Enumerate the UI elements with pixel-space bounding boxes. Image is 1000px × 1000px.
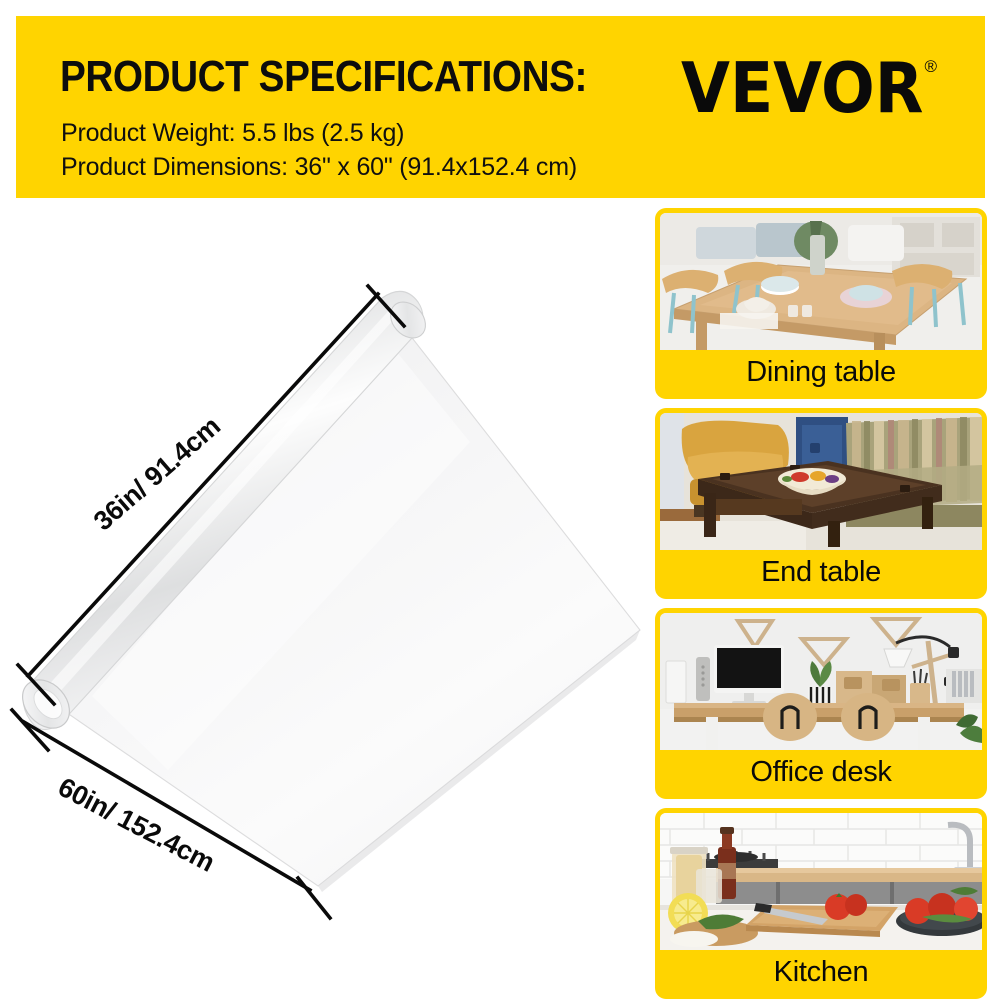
header-banner: PRODUCT SPECIFICATIONS: Product Weight: …: [16, 16, 985, 198]
product-illustration: 36in/ 91.4cm 60in/ 152.4cm: [0, 210, 650, 1000]
kitchen-scene: [660, 813, 982, 950]
dining-table-photo: [660, 213, 982, 350]
dining-table-scene: [660, 213, 982, 350]
use-case-card-office-desk[interactable]: Office desk: [655, 608, 987, 799]
spec-weight: Product Weight: 5.5 lbs (2.5 kg): [61, 119, 404, 148]
use-case-label-end-table: End table: [655, 547, 987, 597]
mat-graphic: [0, 210, 650, 1000]
use-case-card-end-table[interactable]: End table: [655, 408, 987, 599]
spec-dimensions: Product Dimensions: 36" x 60" (91.4x152.…: [61, 153, 577, 182]
use-case-label-kitchen: Kitchen: [655, 947, 987, 997]
office-desk-scene: [660, 613, 982, 750]
page-title: PRODUCT SPECIFICATIONS:: [60, 52, 587, 102]
use-case-card-kitchen[interactable]: Kitchen: [655, 808, 987, 999]
use-case-card-list: Dining table: [655, 208, 987, 999]
use-case-label-dining-table: Dining table: [655, 347, 987, 397]
end-table-photo: [660, 413, 982, 550]
use-case-card-dining-table[interactable]: Dining table: [655, 208, 987, 399]
brand-logo: VEVOR ®: [681, 54, 937, 116]
brand-wordmark: VEVOR: [681, 54, 923, 123]
kitchen-photo: [660, 813, 982, 950]
registered-trademark-icon: ®: [924, 58, 937, 75]
office-desk-photo: [660, 613, 982, 750]
end-table-scene: [660, 413, 982, 550]
use-case-label-office-desk: Office desk: [655, 747, 987, 797]
